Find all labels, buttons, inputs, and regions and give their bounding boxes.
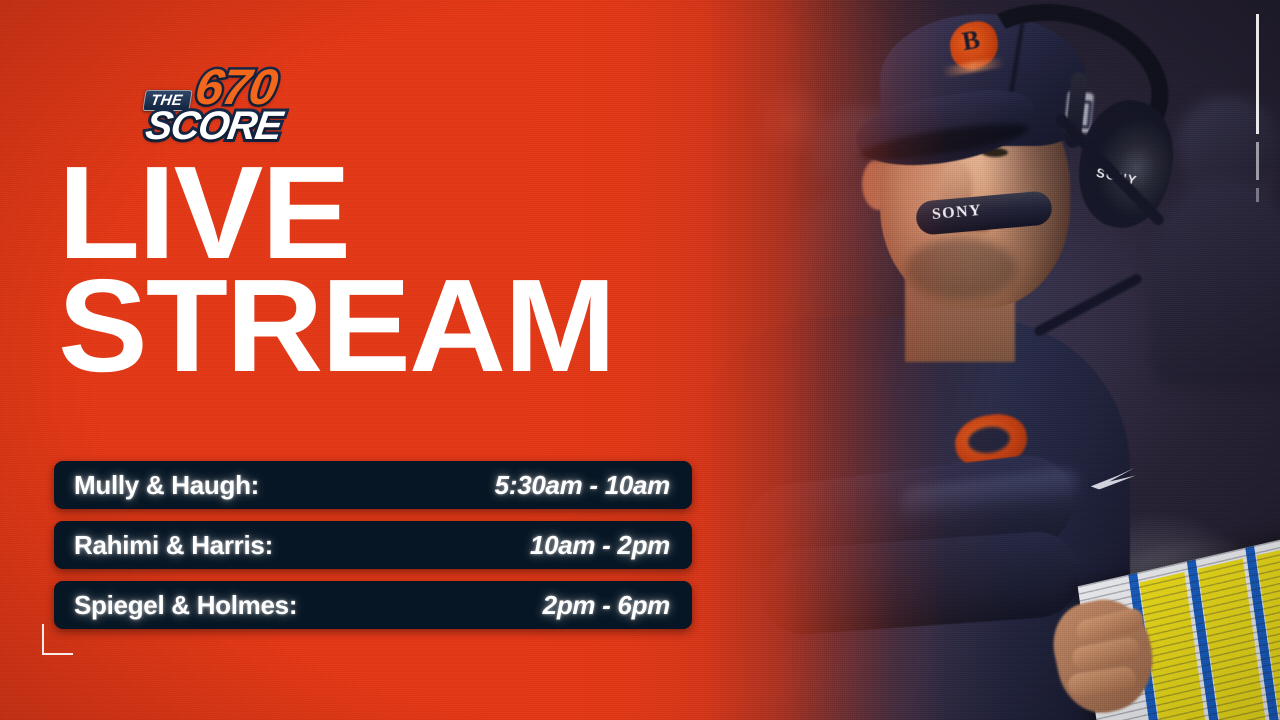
show-name: Spiegel & Holmes: (74, 591, 297, 619)
show-name: Rahimi & Harris: (74, 531, 273, 559)
livestream-promo-graphic: B SONY SONY THE 670 (0, 0, 1280, 720)
show-name: Mully & Haugh: (74, 471, 259, 499)
corner-bracket-bottom-left (42, 624, 73, 655)
vertical-rule-top-right-segment-3 (1256, 188, 1259, 202)
the-670-score-logo[interactable]: THE 670 SCORE (140, 66, 314, 142)
show-schedule-list: Mully & Haugh: 5:30am - 10am Rahimi & Ha… (54, 461, 692, 641)
page-title: LIVE STREAM (58, 156, 778, 382)
show-time: 10am - 2pm (530, 531, 670, 559)
schedule-row-rahimi-harris[interactable]: Rahimi & Harris: 10am - 2pm (54, 521, 692, 569)
vertical-rule-top-right (1256, 14, 1259, 134)
schedule-row-mully-haugh[interactable]: Mully & Haugh: 5:30am - 10am (54, 461, 692, 509)
schedule-row-spiegel-holmes[interactable]: Spiegel & Holmes: 2pm - 6pm (54, 581, 692, 629)
headline-line-stream: STREAM (58, 269, 792, 382)
show-time: 2pm - 6pm (543, 591, 670, 619)
vertical-rule-top-right-segment-2 (1256, 142, 1259, 180)
show-time: 5:30am - 10am (495, 471, 670, 499)
